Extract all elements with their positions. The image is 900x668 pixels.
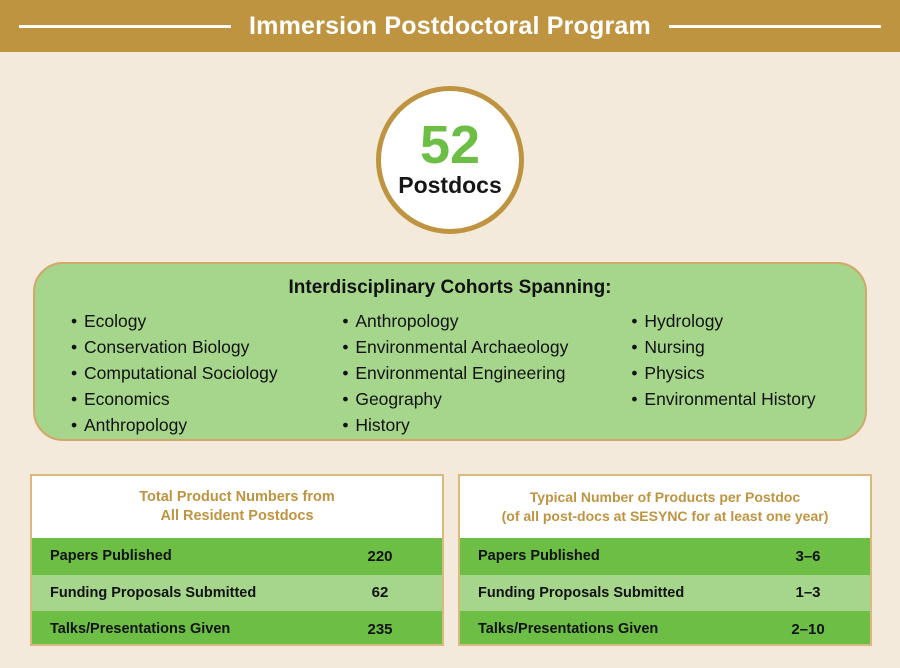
bullet-icon: • <box>631 386 644 412</box>
list-item: •Nursing <box>631 334 861 360</box>
table-header-line-1: Total Product Numbers from <box>139 488 335 507</box>
list-item-label: Anthropology <box>84 415 187 435</box>
list-item-label: Environmental Engineering <box>355 363 565 383</box>
page-title: Immersion Postdoctoral Program <box>249 12 651 41</box>
bullet-icon: • <box>71 412 84 438</box>
bullet-icon: • <box>71 334 84 360</box>
list-item: •Geography <box>342 386 623 412</box>
bullet-icon: • <box>342 412 355 438</box>
table-row: Funding Proposals Submitted 1–3 <box>460 575 870 612</box>
bullet-icon: • <box>71 360 84 386</box>
table-header: Typical Number of Products per Postdoc (… <box>460 476 870 538</box>
list-item-label: Geography <box>355 389 442 409</box>
list-item-label: Economics <box>84 389 170 409</box>
list-item-label: Anthropology <box>355 311 458 331</box>
list-item-label: Environmental Archaeology <box>355 337 568 357</box>
row-value: 62 <box>334 584 426 601</box>
row-value: 2–10 <box>762 621 854 638</box>
cohorts-panel: Interdisciplinary Cohorts Spanning: •Eco… <box>33 262 867 441</box>
list-item: •Physics <box>631 360 861 386</box>
list-item-label: History <box>355 415 409 435</box>
list-item-label: Nursing <box>644 337 704 357</box>
table-header-line-1: Typical Number of Products per Postdoc <box>530 488 800 507</box>
list-item-label: Ecology <box>84 311 146 331</box>
list-item: •Anthropology <box>71 412 326 438</box>
list-item: •Environmental Engineering <box>342 360 623 386</box>
list-item: •Environmental Archaeology <box>342 334 623 360</box>
list-item-label: Hydrology <box>644 311 723 331</box>
list-item: •Ecology <box>71 308 326 334</box>
bullet-icon: • <box>631 360 644 386</box>
list-item: •Hydrology <box>631 308 861 334</box>
list-item: •Anthropology <box>342 308 623 334</box>
list-item-label: Environmental History <box>644 389 815 409</box>
row-label: Funding Proposals Submitted <box>478 585 762 601</box>
bullet-icon: • <box>71 308 84 334</box>
bullet-icon: • <box>342 334 355 360</box>
row-label: Papers Published <box>478 548 762 564</box>
table-row: Papers Published 220 <box>32 538 442 575</box>
products-per-postdoc-table: Typical Number of Products per Postdoc (… <box>458 474 872 646</box>
row-value: 220 <box>334 548 426 565</box>
header-rule-left-icon <box>19 25 231 28</box>
list-item: •Environmental History <box>631 386 861 412</box>
list-item-label: Physics <box>644 363 704 383</box>
list-item-label: Conservation Biology <box>84 337 249 357</box>
bullet-icon: • <box>342 386 355 412</box>
list-item: •Conservation Biology <box>71 334 326 360</box>
stat-circle: 52 Postdocs <box>376 86 524 234</box>
row-label: Talks/Presentations Given <box>50 621 334 637</box>
bullet-icon: • <box>631 308 644 334</box>
stat-number: 52 <box>420 119 480 172</box>
table-header-line-2: (of all post-docs at SESYNC for at least… <box>502 507 829 526</box>
table-row: Funding Proposals Submitted 62 <box>32 575 442 612</box>
table-header: Total Product Numbers from All Resident … <box>32 476 442 538</box>
bullet-icon: • <box>631 334 644 360</box>
row-value: 235 <box>334 621 426 638</box>
table-row: Talks/Presentations Given 235 <box>32 611 442 646</box>
row-label: Papers Published <box>50 548 334 564</box>
list-item-label: Computational Sociology <box>84 363 278 383</box>
bullet-icon: • <box>342 308 355 334</box>
postdoc-count-stat: 52 Postdocs <box>376 86 524 234</box>
cohorts-column-1: •Ecology •Conservation Biology •Computat… <box>39 308 326 438</box>
table-header-line-2: All Resident Postdocs <box>160 507 313 526</box>
stat-label: Postdocs <box>398 174 502 197</box>
table-row: Papers Published 3–6 <box>460 538 870 575</box>
table-row: Talks/Presentations Given 2–10 <box>460 611 870 646</box>
list-item: •Economics <box>71 386 326 412</box>
header-bar: Immersion Postdoctoral Program <box>0 0 900 52</box>
bullet-icon: • <box>71 386 84 412</box>
total-products-table: Total Product Numbers from All Resident … <box>30 474 444 646</box>
header-rule-right-icon <box>669 25 881 28</box>
cohorts-columns: •Ecology •Conservation Biology •Computat… <box>35 308 865 438</box>
list-item: •Computational Sociology <box>71 360 326 386</box>
row-label: Funding Proposals Submitted <box>50 585 334 601</box>
cohorts-title: Interdisciplinary Cohorts Spanning: <box>35 277 865 299</box>
list-item: •History <box>342 412 623 438</box>
cohorts-column-2: •Anthropology •Environmental Archaeology… <box>326 308 623 438</box>
row-value: 3–6 <box>762 548 854 565</box>
row-label: Talks/Presentations Given <box>478 621 762 637</box>
cohorts-column-3: •Hydrology •Nursing •Physics •Environmen… <box>623 308 861 438</box>
row-value: 1–3 <box>762 584 854 601</box>
bullet-icon: • <box>342 360 355 386</box>
